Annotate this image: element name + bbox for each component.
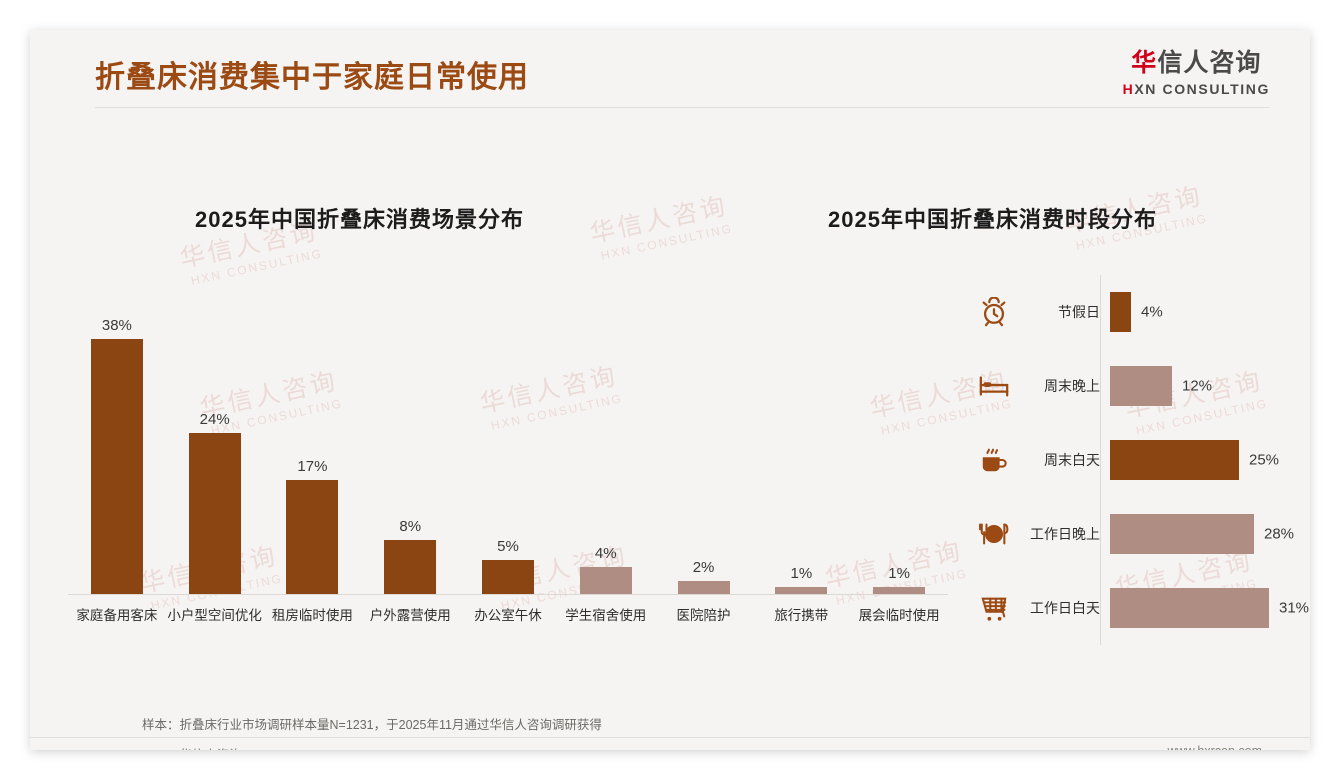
bar-fill[interactable] (1110, 366, 1172, 406)
column-category-label: 小户型空间优化 (166, 604, 264, 624)
column-category-label: 家庭备用客床 (68, 604, 166, 624)
column-bar-group: 24% (189, 254, 241, 594)
column-category-label: 户外露营使用 (361, 604, 459, 624)
right-chart-title: 2025年中国折叠床消费时段分布 (828, 202, 1157, 234)
shopping-cart-icon (970, 586, 1018, 630)
column-bar[interactable] (580, 567, 632, 594)
footer-divider (30, 737, 1310, 738)
company-logo: 华信人咨询 HXN CONSULTING (1123, 50, 1270, 97)
column-bar-group: 38% (91, 254, 143, 594)
copyright-text: ©2026.1 HXR华信人咨询 (102, 744, 242, 750)
column-bar-group: 8% (384, 254, 436, 594)
watermark-cn: 华信人咨询 (586, 186, 731, 250)
watermark: 华信人咨询 HXN CONSULTING (586, 186, 734, 264)
bar-track: 28% (1110, 497, 1290, 571)
column-bar[interactable] (482, 560, 534, 594)
column-bar-group: 2% (678, 254, 730, 594)
bar-value-label: 31% (1279, 600, 1309, 617)
logo-english-accent: H (1123, 81, 1135, 97)
bar-category-label: 工作日晚上 (1018, 524, 1100, 544)
bar-fill[interactable] (1110, 514, 1254, 554)
logo-english: HXN CONSULTING (1123, 81, 1270, 97)
source-note: 样本：折叠床行业市场调研样本量N=1231，于2025年11月通过华信人咨询调研… (142, 714, 602, 733)
column-bar[interactable] (384, 540, 436, 594)
slide-canvas: 华信人咨询 HXN CONSULTING 华信人咨询 HXN CONSULTIN… (30, 30, 1310, 750)
bar-chart-row: 工作日晚上28% (960, 497, 1290, 571)
bar-chart-row: 周末白天25% (960, 423, 1290, 497)
bar-track: 25% (1110, 423, 1290, 497)
alarm-clock-icon (970, 290, 1018, 334)
column-value-label: 8% (399, 518, 421, 535)
bar-category-label: 周末晚上 (1018, 376, 1100, 396)
column-bar[interactable] (91, 339, 143, 594)
bar-fill[interactable] (1110, 440, 1239, 480)
bar-chart-row: 节假日4% (960, 275, 1290, 349)
bar-value-label: 4% (1141, 304, 1163, 321)
bar-chart-row: 工作日白天31% (960, 571, 1290, 645)
logo-chinese-accent: 华 (1131, 49, 1157, 77)
column-value-label: 4% (595, 545, 617, 562)
column-category-label: 租房临时使用 (264, 604, 362, 624)
column-value-label: 5% (497, 538, 519, 555)
column-chart-axis (68, 594, 948, 595)
column-value-label: 24% (200, 411, 230, 428)
column-bar-group: 1% (873, 254, 925, 594)
column-category-label: 医院陪护 (655, 604, 753, 624)
bar-fill[interactable] (1110, 292, 1131, 332)
bar-category-label: 节假日 (1018, 302, 1100, 322)
scenario-column-chart: 38%家庭备用客床24%小户型空间优化17%租房临时使用8%户外露营使用5%办公… (68, 255, 948, 595)
column-category-label: 办公室午休 (459, 604, 557, 624)
column-value-label: 2% (693, 559, 715, 576)
bar-fill[interactable] (1110, 588, 1269, 628)
column-bar[interactable] (873, 587, 925, 594)
website-link[interactable]: www.hxrcon.com (1168, 744, 1262, 750)
logo-chinese-rest: 信人咨询 (1157, 49, 1261, 77)
column-value-label: 38% (102, 317, 132, 334)
timeslot-bar-chart: 节假日4%周末晚上12%周末白天25%工作日晚上28%工作日白天31% (960, 275, 1290, 645)
column-category-label: 学生宿舍使用 (557, 604, 655, 624)
bar-value-label: 28% (1264, 526, 1294, 543)
column-value-label: 1% (790, 565, 812, 582)
column-category-label: 展会临时使用 (850, 604, 948, 624)
bar-category-label: 工作日白天 (1018, 598, 1100, 618)
column-bar-group: 17% (286, 254, 338, 594)
bar-track: 31% (1110, 571, 1290, 645)
column-bar-group: 1% (775, 254, 827, 594)
bar-chart-row: 周末晚上12% (960, 349, 1290, 423)
column-value-label: 17% (297, 458, 327, 475)
column-bar[interactable] (189, 433, 241, 594)
page-title: 折叠床消费集中于家庭日常使用 (95, 52, 529, 96)
column-category-label: 旅行携带 (752, 604, 850, 624)
logo-chinese: 华信人咨询 (1123, 50, 1270, 78)
bed-icon (970, 364, 1018, 408)
plate-cutlery-icon (970, 512, 1018, 556)
slide-header: 折叠床消费集中于家庭日常使用 华信人咨询 HXN CONSULTING (30, 30, 1310, 108)
column-bar[interactable] (678, 581, 730, 594)
column-bar[interactable] (286, 480, 338, 594)
column-bar-group: 5% (482, 254, 534, 594)
left-chart-title: 2025年中国折叠床消费场景分布 (195, 202, 524, 234)
logo-english-rest: XN CONSULTING (1134, 81, 1270, 97)
bar-category-label: 周末白天 (1018, 450, 1100, 470)
column-bar-group: 4% (580, 254, 632, 594)
bar-value-label: 25% (1249, 452, 1279, 469)
column-bar[interactable] (775, 587, 827, 594)
coffee-mug-icon (970, 438, 1018, 482)
bar-value-label: 12% (1182, 378, 1212, 395)
bar-track: 4% (1110, 275, 1290, 349)
bar-track: 12% (1110, 349, 1290, 423)
column-value-label: 1% (888, 565, 910, 582)
